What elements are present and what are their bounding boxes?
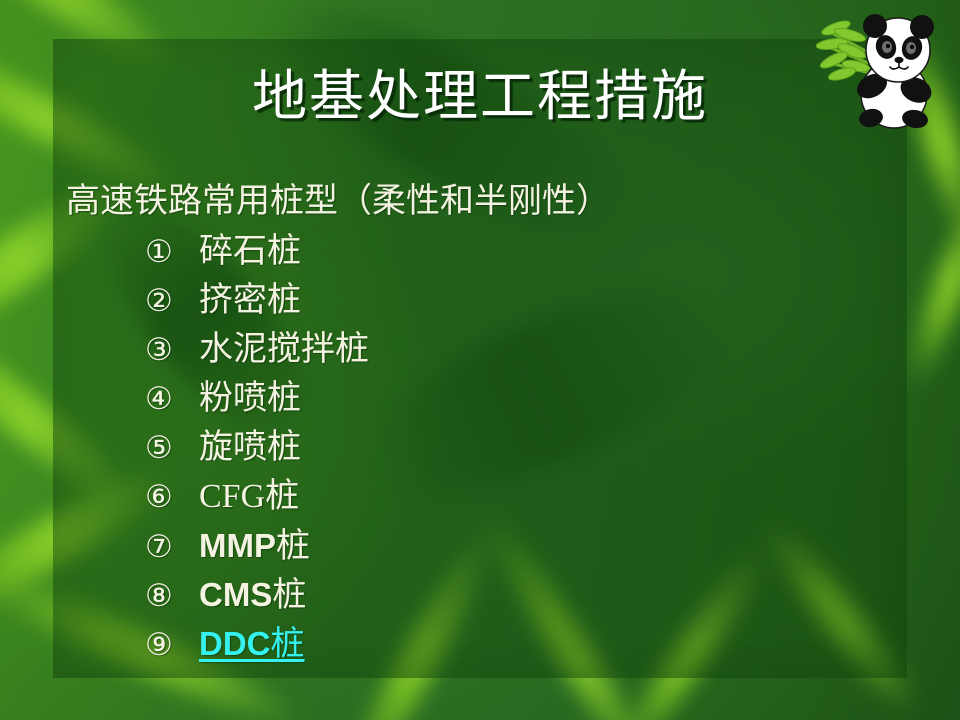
list-item-marker: ⑦ [145,523,199,572]
slide-body: 高速铁路常用桩型（柔性和半刚性） ①碎石桩②挤密桩③水泥搅拌桩④粉喷桩⑤旋喷桩⑥… [66,178,896,668]
label-cjk: 桩 [265,478,299,515]
list-item: ⑧CMS桩 [66,570,896,619]
list-item-label: 碎石桩 [199,227,301,276]
list-item[interactable]: ⑨DDC桩 [66,619,896,668]
list-item: ②挤密桩 [66,276,896,325]
list-item-label: 粉喷桩 [199,374,301,423]
label-latin: MMP [199,527,276,564]
list-item-marker: ③ [145,326,199,375]
list-item-marker: ⑥ [145,473,199,522]
list-item-marker: ② [145,277,199,326]
list-item-label: 挤密桩 [199,276,301,325]
list-item-label: 旋喷桩 [199,423,301,472]
list-item-marker: ⑧ [145,572,199,621]
list-item: ③水泥搅拌桩 [66,325,896,374]
list-item-marker: ⑤ [145,424,199,473]
list-item-label: 水泥搅拌桩 [199,325,369,374]
list-item-label: CMS桩 [199,570,306,620]
list-item: ④粉喷桩 [66,374,896,423]
list-item-label: CFG桩 [199,472,299,521]
label-latin: DDC [199,625,271,662]
list-item-marker: ① [145,228,199,277]
list-item: ①碎石桩 [66,227,896,276]
list-item-link[interactable]: DDC桩 [199,619,305,669]
slide-title: 地基处理工程措施 [53,62,907,132]
list-item: ⑥CFG桩 [66,472,896,521]
label-latin: CMS [199,576,272,613]
list-item: ⑤旋喷桩 [66,423,896,472]
label-cjk: 桩 [272,577,306,614]
label-cjk: 桩 [276,528,310,565]
label-latin: CFG [199,478,265,515]
slide-canvas: 地基处理工程措施 高速铁路常用桩型（柔性和半刚性） ①碎石桩②挤密桩③水泥搅拌桩… [0,0,960,720]
list-item-marker: ④ [145,375,199,424]
label-cjk: 桩 [271,626,305,663]
list-item-label: MMP桩 [199,521,310,571]
list-item-marker: ⑨ [145,621,199,670]
pile-type-list: ①碎石桩②挤密桩③水泥搅拌桩④粉喷桩⑤旋喷桩⑥CFG桩⑦MMP桩⑧CMS桩⑨DD… [66,227,896,668]
lead-line: 高速铁路常用桩型（柔性和半刚性） [66,178,896,225]
list-item: ⑦MMP桩 [66,521,896,570]
panda-with-bamboo-icon [812,2,958,130]
